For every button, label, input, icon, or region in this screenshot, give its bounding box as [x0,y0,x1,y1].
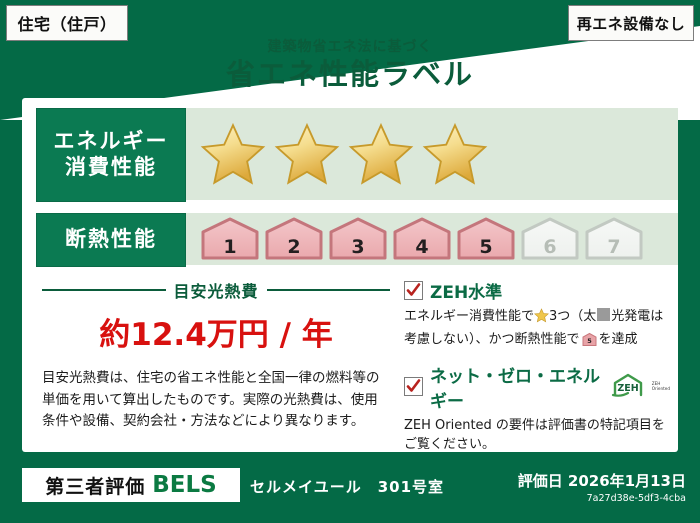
star-rating [200,122,488,186]
star-filled-icon [200,122,266,186]
utility-cost-block: 目安光熱費 約12.4万円 / 年 目安光熱費は、住宅の省エネ性能と全国一律の燃… [42,278,390,433]
main-panel: エネルギー 消費性能 断熱性能 1234567 目安光熱費 約12.4万円 / [22,98,678,452]
svg-text:ZEH: ZEH [617,383,638,394]
bels-badge: 第三者評価 BELS [22,468,240,502]
star-filled-icon [422,122,488,186]
criteria-net-zero-header: ネット・ゼロ・エネルギー ZEH ZEH Oriented [404,362,670,412]
insulation-level-number: 3 [328,236,388,258]
utility-cost-value: 約12.4万円 / 年 [42,309,390,354]
utility-cost-note: 目安光熱費は、住宅の省エネ性能と全国一律の燃料等の単価を用いて算出したものです。… [42,368,390,433]
zeh-oriented-logo-icon: ZEH [611,373,645,401]
insulation-level-6: 6 [520,217,580,261]
insulation-level-number: 5 [456,236,516,258]
zeh-sub-line2: Oriented [652,386,670,391]
tag-dwelling-type: 住宅（住戸） [6,5,128,41]
bels-prefix: 第三者評価 [45,472,145,499]
criteria-zeh-standard-title: ZEH水準 [430,278,502,303]
criteria-item-zeh-standard: ZEH水準 エネルギー消費性能で3つ（太光発電は考慮しない）、かつ断熱性能で5を… [404,278,670,354]
zeh-body-mid: 3つ（太 [549,309,596,324]
building-name: セルメイユール 301号室 [250,476,444,497]
energy-performance-label-box: エネルギー 消費性能 [36,108,186,202]
zeh-oriented-sublabel: ZEH Oriented [652,382,670,391]
evaluation-date-block: 評価日 2026年1月13日 7a27d38e-5df3-4cba [518,470,686,504]
checkbox-checked-icon [404,377,423,396]
tag-renewable-equipment: 再エネ設備なし [568,5,694,41]
zeh-body-end: を達成 [599,332,638,347]
evaluation-id: 7a27d38e-5df3-4cba [518,493,686,504]
inline-star-icon [534,308,549,330]
insulation-level-number: 1 [200,236,260,258]
utility-cost-heading: 目安光熱費 [42,278,390,302]
insulation-level-2: 2 [264,217,324,261]
heading-rule-left [42,289,166,291]
energy-label-line1: エネルギー [54,129,169,155]
zeh-body-pre: エネルギー消費性能で [404,309,534,324]
energy-performance-row: エネルギー 消費性能 [36,108,678,202]
criteria-net-zero-body: ZEH Oriented の要件は評価書の特記項目をご覧ください。 [404,416,670,456]
header-subtitle: 建築物省エネ法に基づく [0,40,700,55]
energy-label-line2: 消費性能 [65,155,157,181]
inline-insulation-badge: 5 [582,332,597,354]
star-filled-icon [274,122,340,186]
insulation-level-number: 7 [584,236,644,258]
star-filled-icon [348,122,414,186]
insulation-level-1: 1 [200,217,260,261]
criteria-item-net-zero-energy: ネット・ゼロ・エネルギー ZEH ZEH Oriented ZEH Orient… [404,362,670,456]
evaluation-date: 評価日 2026年1月13日 [518,470,686,491]
insulation-level-7: 7 [584,217,644,261]
insulation-level-number: 6 [520,236,580,258]
energy-performance-label: 建築物省エネ法に基づく 省エネ性能ラベル 住宅（住戸） 再エネ設備なし エネルギ… [0,0,700,523]
svg-text:5: 5 [587,337,592,345]
criteria-zeh-standard-body: エネルギー消費性能で3つ（太光発電は考慮しない）、かつ断熱性能で5を達成 [404,307,670,354]
criteria-block: ZEH水準 エネルギー消費性能で3つ（太光発電は考慮しない）、かつ断熱性能で5を… [404,278,670,463]
insulation-label-line1: 断熱性能 [65,227,157,253]
checkbox-checked-icon [404,281,423,300]
energy-performance-stars-area [186,108,678,200]
utility-cost-heading-text: 目安光熱費 [174,278,259,302]
criteria-net-zero-title: ネット・ゼロ・エネルギー [430,362,602,412]
redacted-character [597,308,610,321]
insulation-level-5: 5 [456,217,516,261]
insulation-level-number: 4 [392,236,452,258]
insulation-level-4: 4 [392,217,452,261]
criteria-zeh-standard-header: ZEH水準 [404,278,670,303]
header-text-block: 建築物省エネ法に基づく 省エネ性能ラベル [0,40,700,93]
heading-rule-right [267,289,391,291]
insulation-level-number: 2 [264,236,324,258]
insulation-performance-label-box: 断熱性能 [36,213,186,267]
insulation-level-3: 3 [328,217,388,261]
insulation-performance-row: 断熱性能 1234567 [36,213,678,267]
bels-name: BELS [152,472,216,498]
insulation-performance-scale-area: 1234567 [186,213,678,265]
page-title: 省エネ性能ラベル [0,56,700,92]
insulation-level-scale: 1234567 [200,217,644,261]
